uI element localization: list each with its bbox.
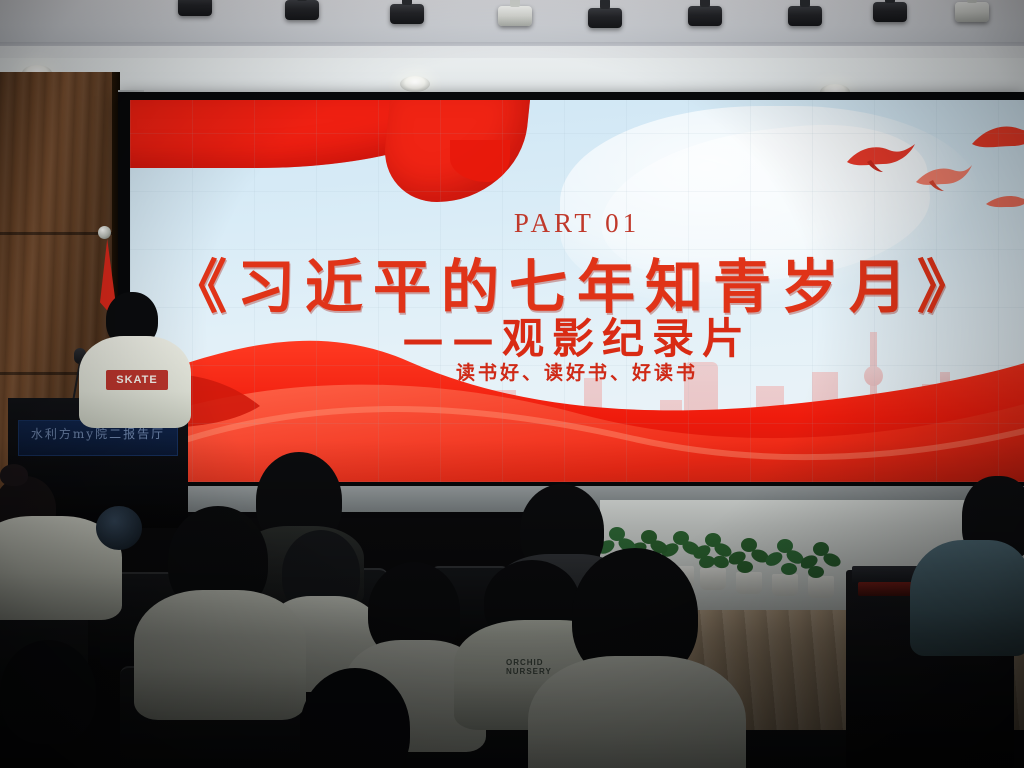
shirt-graphic-badge: SKATE xyxy=(106,370,168,390)
flag-finial-icon xyxy=(98,226,111,239)
track-light-icon xyxy=(788,6,822,26)
track-light-icon xyxy=(498,6,532,26)
track-light-icon xyxy=(588,8,622,28)
track-light-icon xyxy=(688,6,722,26)
track-light-icon xyxy=(390,4,424,24)
backpack-or-object xyxy=(96,506,142,550)
person-hair-bun xyxy=(0,464,28,486)
person-shirt xyxy=(910,540,1024,656)
recessed-downlight-icon xyxy=(400,76,430,92)
person-shirt xyxy=(134,590,306,720)
track-light-icon xyxy=(955,2,989,22)
shirt-text: ORCHID NURSERY xyxy=(506,658,552,676)
person-head xyxy=(0,640,96,744)
dove-icon xyxy=(915,162,973,192)
led-screen[interactable]: PART 01 《习近平的七年知青岁月》 ——观影纪录片 读书好、读好书、好读书 xyxy=(130,100,1024,482)
dove-icon xyxy=(845,140,917,174)
auditorium-photo: PART 01 《习近平的七年知青岁月》 ——观影纪录片 读书好、读好书、好读书 xyxy=(0,0,1024,768)
dove-icon xyxy=(970,120,1024,156)
track-light-icon xyxy=(873,2,907,22)
shirt-graphic-text: SKATE xyxy=(116,374,157,386)
track-light-icon xyxy=(178,0,212,16)
screen-slogan: 读书好、读好书、好读书 xyxy=(130,358,1024,385)
person-shirt xyxy=(528,656,746,768)
track-light-icon xyxy=(285,0,319,20)
screen-subtitle: ——观影纪录片 xyxy=(130,305,1024,366)
part-label: PART 01 xyxy=(130,208,1024,239)
